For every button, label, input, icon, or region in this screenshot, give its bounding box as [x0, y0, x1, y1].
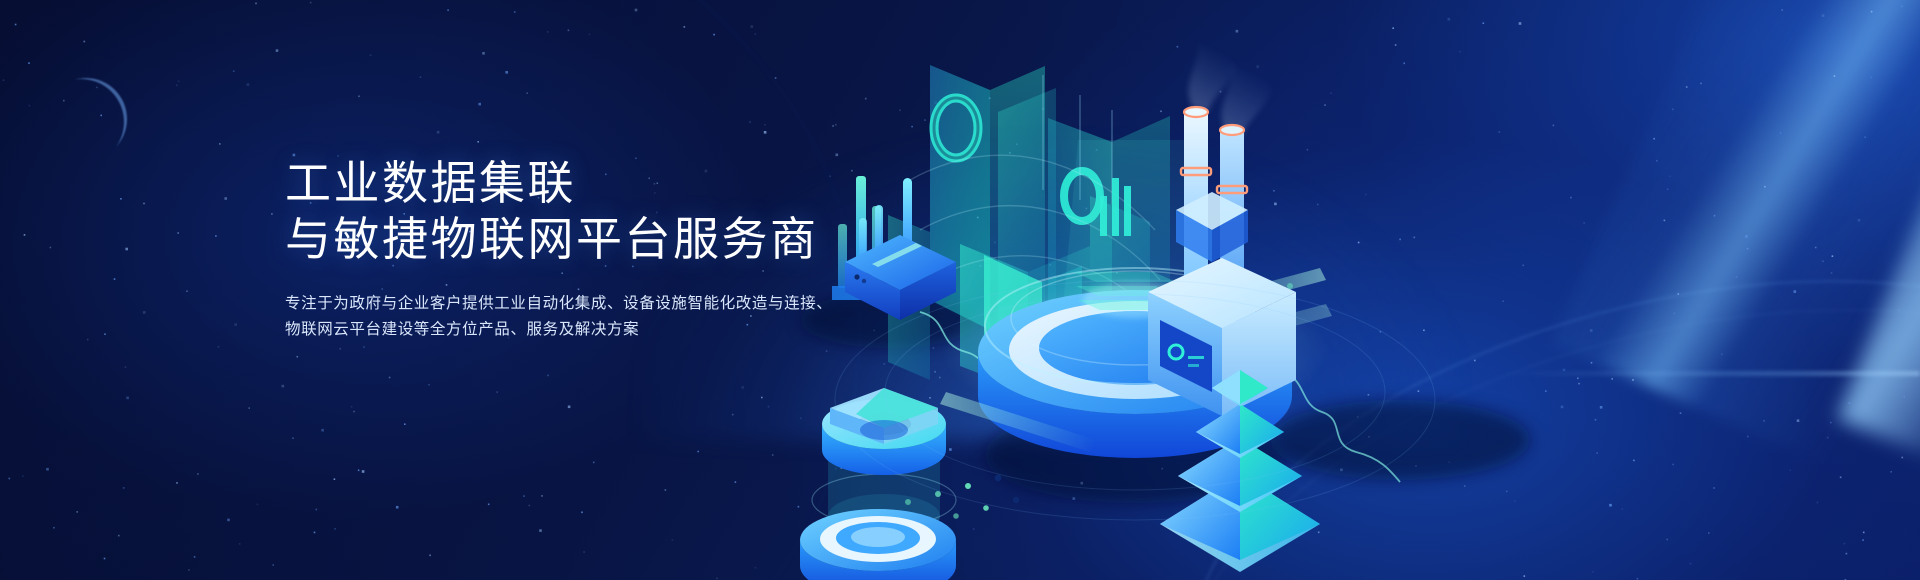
- headline-line-1: 工业数据集联: [285, 155, 832, 211]
- subtitle-line-2: 物联网云平台建设等全方位产品、服务及解决方案: [285, 317, 832, 343]
- hero-copy: 工业数据集联 与敏捷物联网平台服务商 专注于为政府与企业客户提供工业自动化集成、…: [285, 155, 832, 343]
- headline-line-2: 与敏捷物联网平台服务商: [285, 211, 832, 267]
- small-ring-disc: [800, 509, 956, 580]
- subtitle-line-1: 专注于为政府与企业客户提供工业自动化集成、设备设施智能化改造与连接、: [285, 291, 832, 317]
- isometric-iot-illustration: [760, 0, 1920, 580]
- hero-banner: 工业数据集联 与敏捷物联网平台服务商 专注于为政府与企业客户提供工业自动化集成、…: [0, 0, 1920, 580]
